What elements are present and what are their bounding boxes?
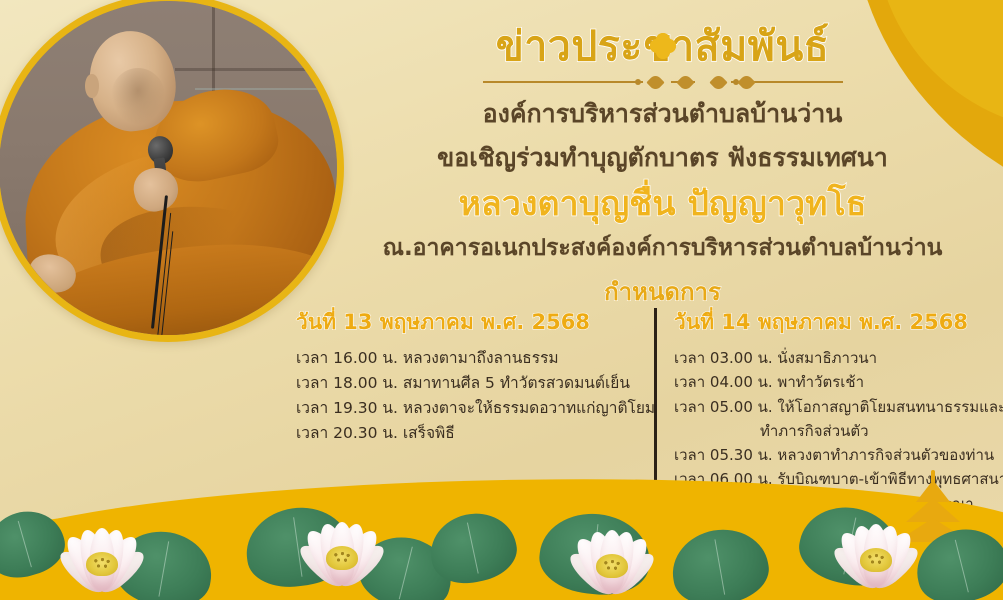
schedule-item: เวลา 20.30 น. เสร็จพิธี [296, 421, 636, 446]
schedule-item: เวลา 05.00 น. ให้โอกาสญาติโยมสนทนาธรรมแล… [674, 395, 996, 419]
schedule-item: เวลา 16.00 น. หลวงตามาถึงลานธรรม [296, 346, 636, 371]
venue-line: ณ.อาคารอเนกประสงค์องค์การบริหารส่วนตำบลบ… [330, 234, 995, 264]
poster-canvas: ข่าวประชาสัมพันธ์ องค์การบริหารส่วนตำบลบ… [0, 0, 1003, 600]
header-block: ข่าวประชาสัมพันธ์ องค์การบริหารส่วนตำบลบ… [330, 22, 995, 311]
schedule-list-day1: เวลา 16.00 น. หลวงตามาถึงลานธรรม เวลา 18… [296, 346, 636, 446]
schedule-item: เวลา 04.00 น. พาทำวัตรเช้า [674, 370, 996, 394]
schedule-item-continuation: ทำภารกิจส่วนตัว [674, 419, 996, 443]
monk-ear [85, 74, 99, 97]
monk-photo-frame [0, 0, 344, 342]
schedule-item: เวลา 03.00 น. นั่งสมาธิภาวนา [674, 346, 996, 370]
monk-photo [0, 1, 337, 335]
lotus-flower [820, 494, 932, 590]
title-row: ข่าวประชาสัมพันธ์ [330, 22, 995, 70]
invitation-line: ขอเชิญร่วมทำบุญตักบาตร ฟังธรรมเทศนา [330, 142, 995, 175]
schedule-item: เวลา 05.30 น. หลวงตาทำภารกิจส่วนตัวของท่… [674, 443, 996, 467]
schedule-item: เวลา 18.00 น. สมาทานศีล 5 ทำวัตรสวดมนต์เ… [296, 371, 636, 396]
monk-face-shading [111, 68, 165, 125]
title-divider-ornament [483, 75, 843, 89]
quatrefoil-ornament-right-icon [650, 33, 676, 59]
agenda-heading: กำหนดการ [330, 272, 995, 311]
schedule-column-divider [654, 308, 657, 500]
lotus-flower [556, 500, 668, 596]
lotus-flower [46, 498, 158, 594]
lotus-flower [286, 492, 398, 588]
organization-name: องค์การบริหารส่วนตำบลบ้านว่าน [330, 98, 995, 131]
photo-wall-seam-horizontal [175, 68, 337, 71]
schedule-date-heading-day1: วันที่ 13 พฤษภาคม พ.ศ. 2568 [296, 306, 636, 339]
schedule-date-heading-day2: วันที่ 14 พฤษภาคม พ.ศ. 2568 [674, 306, 996, 339]
monk-name-title: หลวงตาบุญชื่น ปัญญาวุทโธ [330, 183, 995, 226]
schedule-item: เวลา 19.30 น. หลวงตาจะให้ธรรมดอวาทแก่ญาต… [296, 396, 636, 421]
